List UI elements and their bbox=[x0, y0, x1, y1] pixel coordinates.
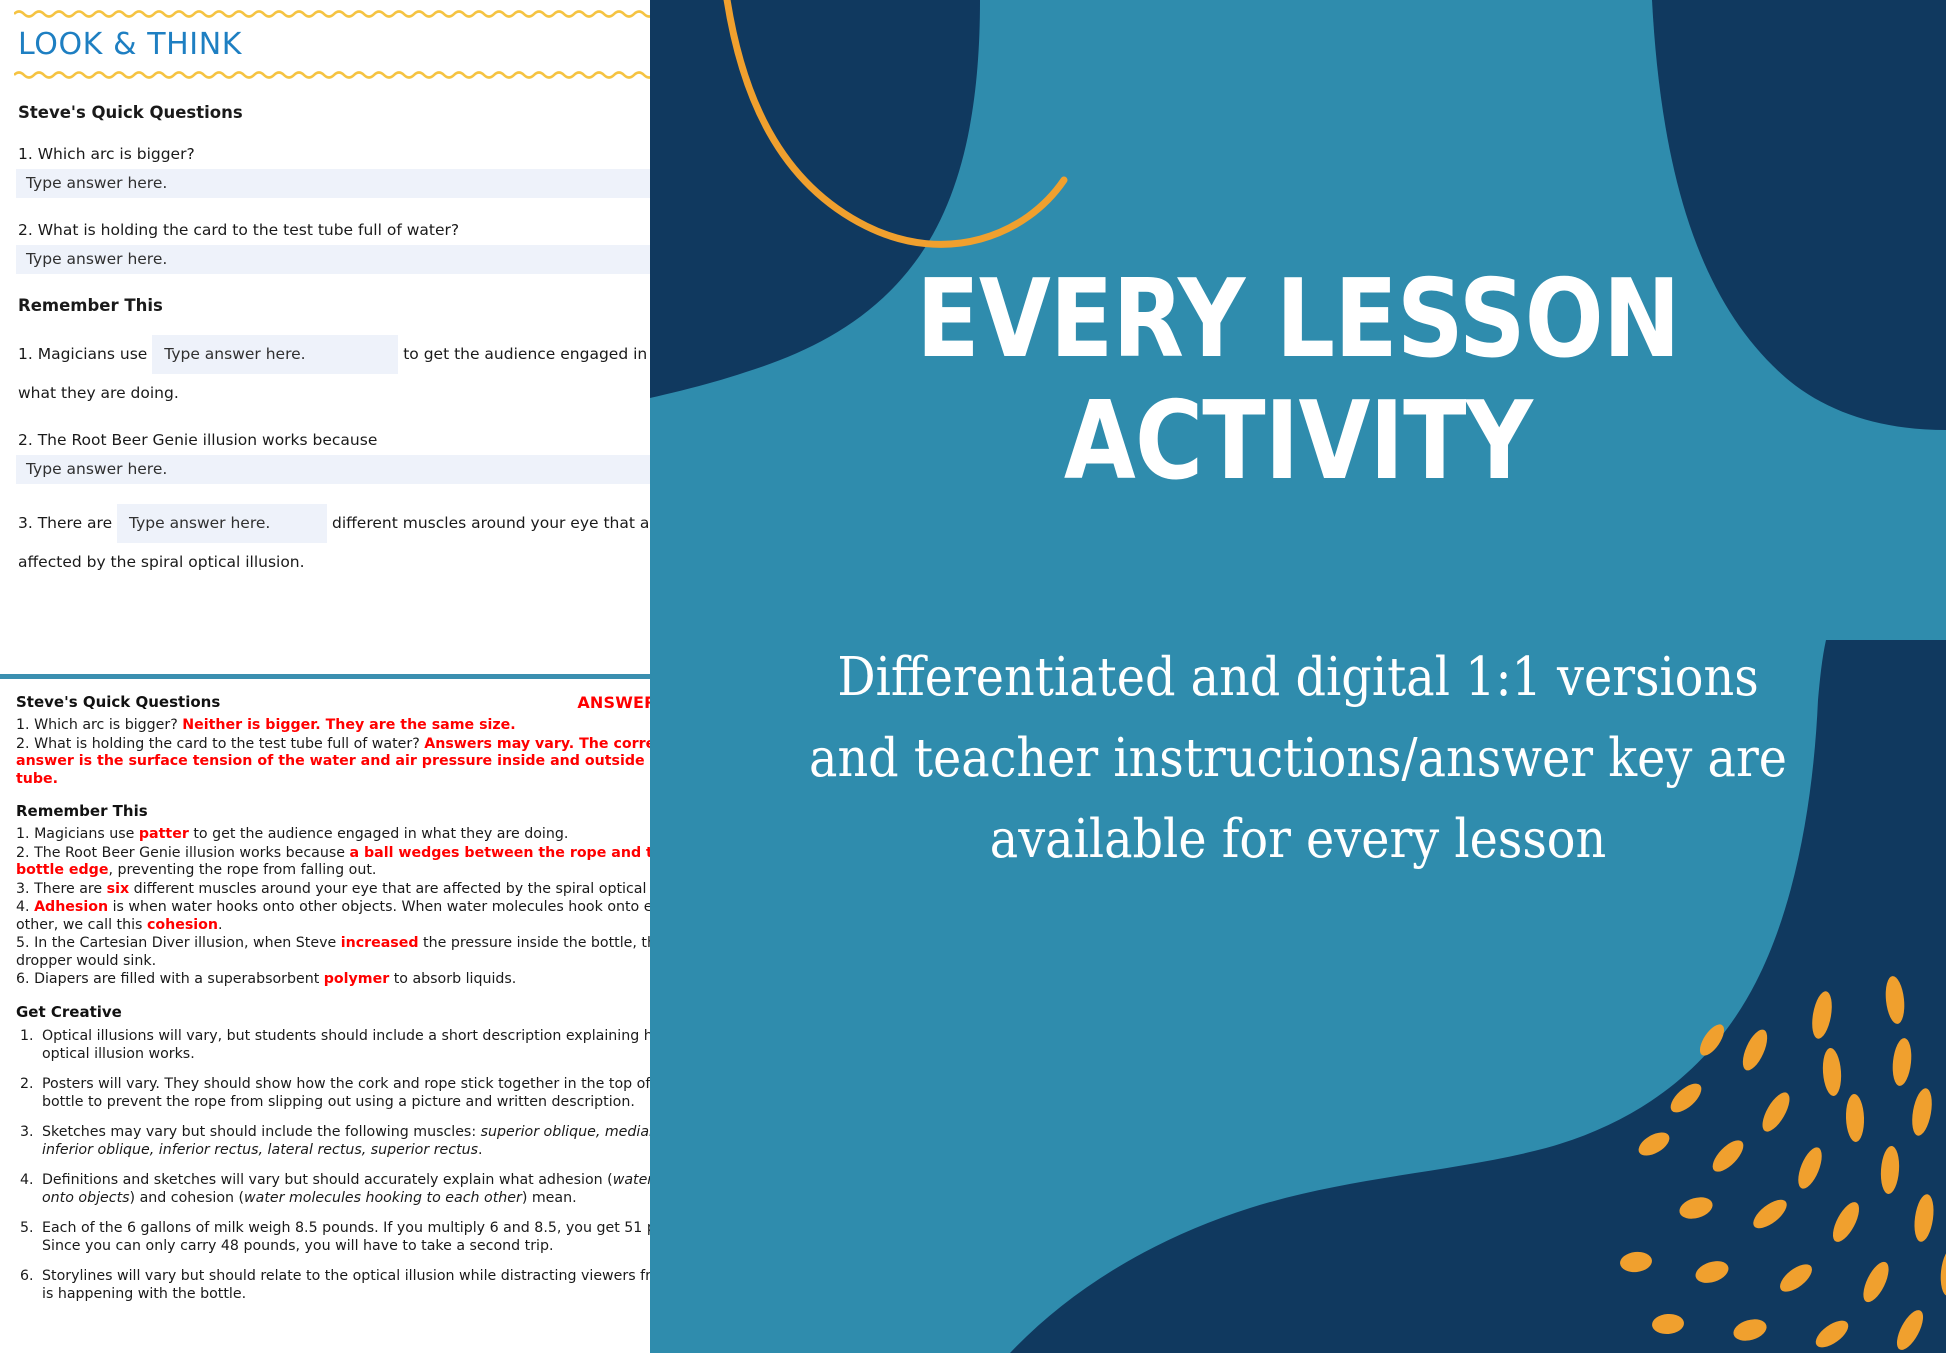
remember-1-prefix: 1. Magicians use bbox=[18, 345, 147, 363]
squiggle-divider-top bbox=[14, 8, 650, 20]
answer-input-remember-2[interactable]: Type answer here. bbox=[16, 455, 650, 484]
answer-input-remember-1[interactable]: Type answer here. bbox=[152, 335, 398, 374]
list-item: 1. Which arc is bigger? Neither is bigge… bbox=[16, 717, 650, 735]
item-pre: Definitions and sketches will vary but s… bbox=[42, 1172, 613, 1188]
answer-key-badge: ANSWER KEY bbox=[577, 693, 650, 712]
answer-key-quick-questions-list: 1. Which arc is bigger? Neither is bigge… bbox=[16, 717, 650, 788]
item-bold: six bbox=[107, 881, 129, 897]
answer-input-remember-3[interactable]: Type answer here. bbox=[117, 504, 327, 543]
list-item: 5. Each of the 6 gallons of milk weigh 8… bbox=[16, 1219, 650, 1255]
list-item: 3. There are six different muscles aroun… bbox=[16, 881, 650, 899]
item-number: 4. bbox=[16, 899, 30, 915]
worksheet-question-2: 2. What is holding the card to the test … bbox=[18, 218, 650, 242]
answer-key-document: ANSWER KEY Steve's Quick Questions 1. Wh… bbox=[0, 666, 650, 1353]
list-item: 2. The Root Beer Genie illusion works be… bbox=[16, 845, 650, 880]
item-pre: In the Cartesian Diver illusion, when St… bbox=[34, 935, 341, 951]
answer-key-heading-remember-this: Remember This bbox=[16, 802, 650, 820]
item-post: , preventing the rope from falling out. bbox=[108, 862, 376, 878]
item-number: 5. bbox=[20, 1219, 34, 1237]
item-number: 2. bbox=[20, 1075, 34, 1093]
answer-input-q1[interactable]: Type answer here. bbox=[16, 169, 650, 198]
list-item: 2. What is holding the card to the test … bbox=[16, 736, 650, 789]
item-number: 5. bbox=[16, 935, 30, 951]
item-question: Which arc is bigger? bbox=[34, 717, 182, 733]
list-item: 4. Definitions and sketches will vary bu… bbox=[16, 1171, 650, 1207]
promo-subtitle: Differentiated and digital 1:1 versions … bbox=[785, 637, 1811, 880]
item-post: ) mean. bbox=[522, 1190, 577, 1206]
item-bold: patter bbox=[139, 826, 189, 842]
page-title: LOOK & THINK bbox=[18, 25, 650, 65]
worksheet-remember-2: 2. The Root Beer Genie illusion works be… bbox=[18, 428, 650, 452]
item-number: 2. bbox=[16, 845, 30, 861]
list-item: 3. Sketches may vary but should include … bbox=[16, 1123, 650, 1159]
item-number: 1. bbox=[16, 717, 30, 733]
item-post-2: . bbox=[218, 917, 223, 933]
item-number: 1. bbox=[20, 1027, 34, 1045]
promo-headline-line-1: EVERY LESSON bbox=[916, 257, 1679, 382]
item-answer: Neither is bigger. They are the same siz… bbox=[182, 717, 515, 733]
list-item: 2. Posters will vary. They should show h… bbox=[16, 1075, 650, 1111]
worksheet-section-quick-questions: Steve's Quick Questions bbox=[18, 103, 650, 122]
worksheet-remember-1: 1. Magicians use Type answer here. to ge… bbox=[18, 335, 650, 408]
answer-key-heading-get-creative: Get Creative bbox=[16, 1003, 650, 1021]
item-number: 3. bbox=[16, 881, 30, 897]
item-text: Storylines will vary but should relate t… bbox=[42, 1268, 650, 1302]
answer-key-get-creative-list: 1. Optical illusions will vary, but stud… bbox=[16, 1027, 650, 1303]
promo-slide: LOOK & THINK Steve's Quick Questions 1. … bbox=[0, 0, 1946, 1353]
item-bold: polymer bbox=[324, 971, 389, 987]
item-mid: ) and cohesion ( bbox=[130, 1190, 245, 1206]
item-text: Posters will vary. They should show how … bbox=[42, 1076, 650, 1110]
item-post: different muscles around your eye that a… bbox=[129, 881, 650, 897]
student-worksheet: LOOK & THINK Steve's Quick Questions 1. … bbox=[0, 0, 650, 666]
item-number: 3. bbox=[20, 1123, 34, 1141]
item-text: Optical illusions will vary, but student… bbox=[42, 1028, 650, 1062]
item-bold: increased bbox=[341, 935, 419, 951]
list-item: 6. Storylines will vary but should relat… bbox=[16, 1267, 650, 1303]
item-post: is when water hooks onto other objects. … bbox=[16, 899, 650, 933]
item-pre: Magicians use bbox=[34, 826, 139, 842]
list-item: 1. Magicians use patter to get the audie… bbox=[16, 826, 650, 844]
item-pre: Diapers are filled with a superabsorbent bbox=[34, 971, 324, 987]
list-item: 4. Adhesion is when water hooks onto oth… bbox=[16, 899, 650, 934]
list-item: 5. In the Cartesian Diver illusion, when… bbox=[16, 935, 650, 970]
document-preview-panel: LOOK & THINK Steve's Quick Questions 1. … bbox=[0, 0, 650, 1353]
item-italic-2: water molecules hooking to each other bbox=[244, 1190, 522, 1206]
remember-3-continuation: affected by the spiral optical illusion. bbox=[18, 547, 650, 577]
remember-3-suffix: different muscles around your eye that a… bbox=[332, 514, 650, 532]
answer-key-heading-quick-questions: Steve's Quick Questions bbox=[16, 693, 650, 711]
answer-input-q2[interactable]: Type answer here. bbox=[16, 245, 650, 274]
item-post: to get the audience engaged in what they… bbox=[189, 826, 569, 842]
item-post: to absorb liquids. bbox=[389, 971, 516, 987]
item-text: Each of the 6 gallons of milk weigh 8.5 … bbox=[42, 1220, 650, 1254]
item-number: 4. bbox=[20, 1171, 34, 1189]
item-number: 2. bbox=[16, 736, 30, 752]
worksheet-question-1: 1. Which arc is bigger? bbox=[18, 142, 650, 166]
answer-key-remember-this-list: 1. Magicians use patter to get the audie… bbox=[16, 826, 650, 989]
list-item: 1. Optical illusions will vary, but stud… bbox=[16, 1027, 650, 1063]
list-item: 6. Diapers are filled with a superabsorb… bbox=[16, 971, 650, 989]
item-number: 1. bbox=[16, 826, 30, 842]
item-number: 6. bbox=[16, 971, 30, 987]
item-bold: Adhesion bbox=[34, 899, 108, 915]
item-pre: The Root Beer Genie illusion works becau… bbox=[34, 845, 349, 861]
worksheet-section-remember-this: Remember This bbox=[18, 296, 650, 315]
remember-1-continuation: what they are doing. bbox=[18, 378, 650, 408]
promo-panel: EVERY LESSON ACTIVITY Differentiated and… bbox=[650, 0, 1946, 1353]
promo-headline: EVERY LESSON ACTIVITY bbox=[741, 266, 1856, 496]
item-pre: Sketches may vary but should include the… bbox=[42, 1124, 481, 1140]
item-number: 6. bbox=[20, 1267, 34, 1285]
squiggle-divider-bottom bbox=[14, 69, 650, 81]
item-bold-2: cohesion bbox=[147, 917, 218, 933]
item-pre: There are bbox=[34, 881, 107, 897]
item-question: What is holding the card to the test tub… bbox=[34, 736, 424, 752]
remember-3-prefix: 3. There are bbox=[18, 514, 112, 532]
item-post: . bbox=[478, 1142, 483, 1158]
promo-headline-line-2: ACTIVITY bbox=[741, 388, 1856, 496]
remember-1-suffix: to get the audience engaged in bbox=[403, 345, 647, 363]
worksheet-remember-3: 3. There are Type answer here. different… bbox=[18, 504, 650, 577]
